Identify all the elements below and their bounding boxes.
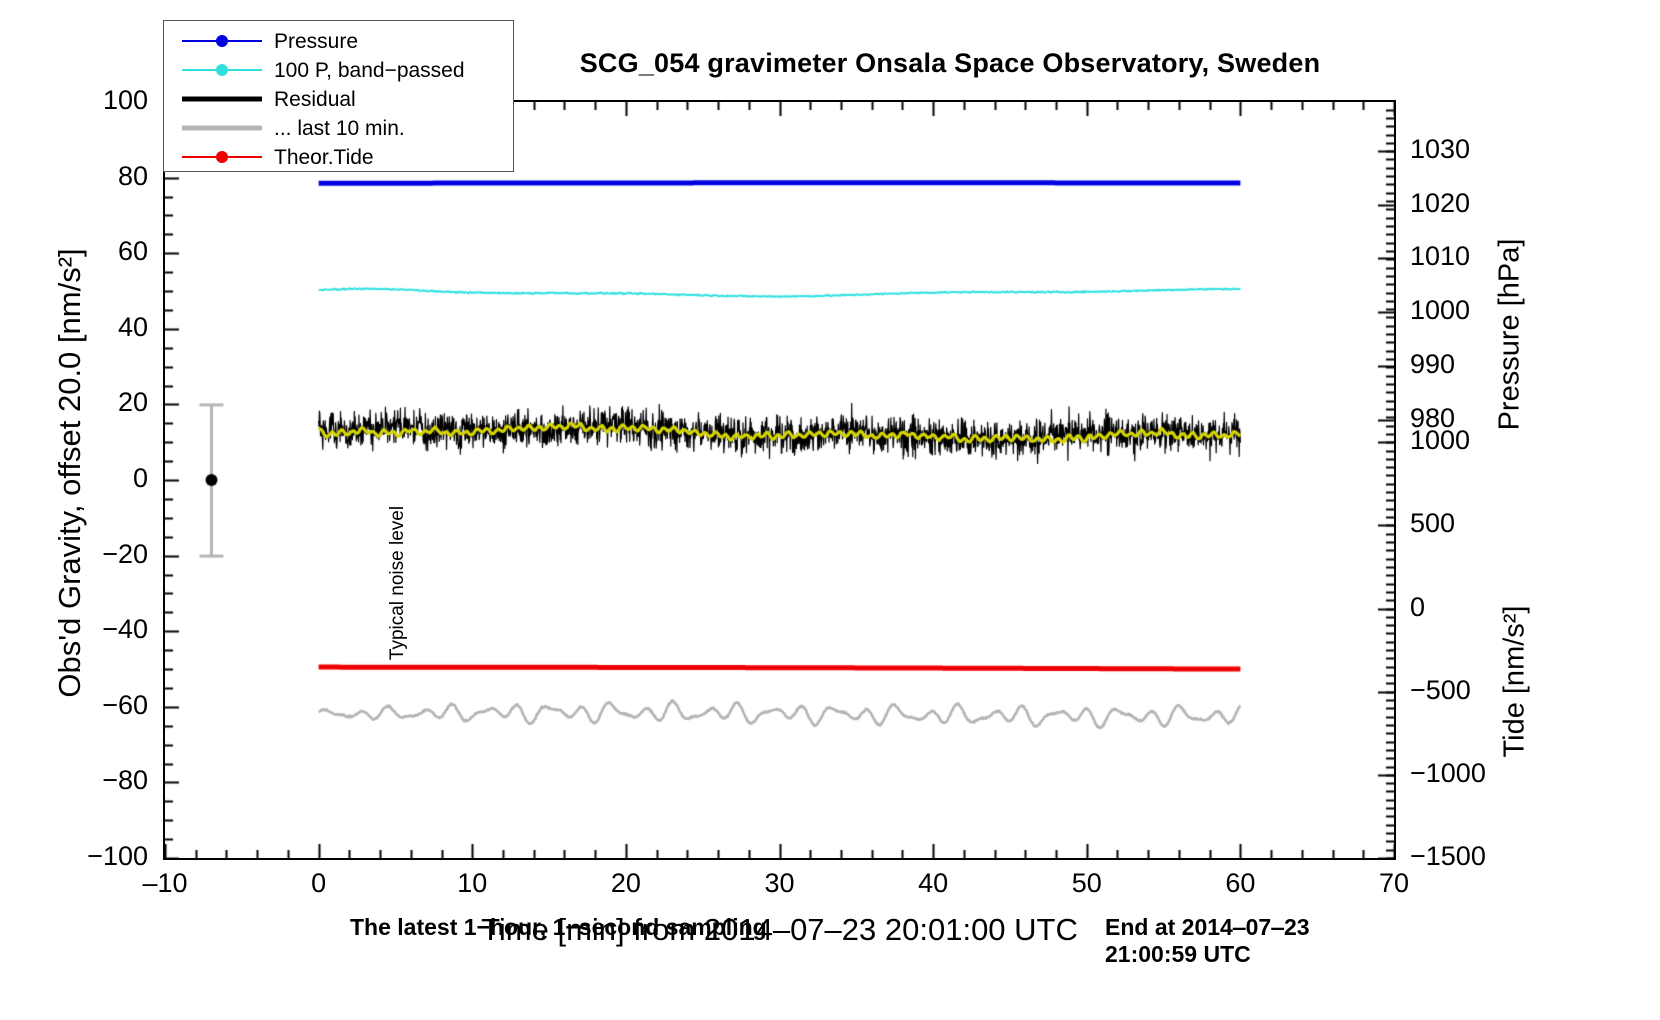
y-tick-label-left: −60 — [0, 690, 148, 721]
y-tick-label-left: −80 — [0, 765, 148, 796]
legend-swatch-icon — [182, 27, 262, 55]
tide-tick-label: −1500 — [1410, 841, 1530, 872]
x-tick-label: 40 — [873, 868, 993, 899]
y-tick-label-left: 100 — [0, 85, 148, 116]
legend-item-4[interactable]: Theor.Tide — [164, 143, 513, 171]
x-tick-label: 10 — [412, 868, 532, 899]
legend-item-1[interactable]: 100 P, band−passed — [164, 56, 513, 84]
tide-tick-label: −500 — [1410, 675, 1530, 706]
tide-tick-label: −1000 — [1410, 758, 1530, 789]
typical-noise-level-label: Typical noise level — [387, 468, 409, 698]
x-tick-label: 30 — [720, 868, 840, 899]
chart-legend[interactable]: Pressure100 P, band−passedResidual... la… — [163, 20, 514, 172]
legend-item-0[interactable]: Pressure — [164, 27, 513, 55]
pressure-tick-label: 1020 — [1410, 188, 1530, 219]
legend-swatch-icon — [182, 114, 262, 142]
legend-label: 100 P, band−passed — [274, 60, 465, 81]
legend-marker-icon — [216, 64, 228, 76]
y-tick-label-left: −20 — [0, 539, 148, 570]
x-axis-title: Time [min] from 2014‒07‒23 20:01:00 UTC — [163, 912, 1396, 948]
y-tick-label-left: 60 — [0, 236, 148, 267]
x-tick-label: 0 — [259, 868, 379, 899]
legend-marker-icon — [216, 35, 228, 47]
legend-swatch-icon — [182, 85, 262, 113]
plot-area: The latest 1−hour, 1−second sampling End… — [163, 100, 1396, 860]
chart-page: SCG_054 gravimeter Onsala Space Observat… — [0, 0, 1660, 1020]
legend-label: ... last 10 min. — [274, 118, 405, 139]
x-tick-label: 70 — [1334, 868, 1454, 899]
pressure-tick-label: 1030 — [1410, 134, 1530, 165]
legend-item-3[interactable]: ... last 10 min. — [164, 114, 513, 142]
legend-marker-icon — [216, 151, 228, 163]
legend-label: Pressure — [274, 31, 358, 52]
tide-tick-label: 0 — [1410, 592, 1530, 623]
legend-label: Theor.Tide — [274, 147, 374, 168]
plot-canvas — [165, 102, 1394, 858]
x-tick-label: 50 — [1027, 868, 1147, 899]
legend-item-2[interactable]: Residual — [164, 85, 513, 113]
legend-swatch-icon — [182, 143, 262, 171]
y-tick-label-left: 0 — [0, 463, 148, 494]
y-tick-label-left: −40 — [0, 614, 148, 645]
pressure-tick-label: 990 — [1410, 349, 1530, 380]
y-tick-label-left: 80 — [0, 161, 148, 192]
legend-label: Residual — [274, 89, 356, 110]
x-tick-label: ‒10 — [105, 868, 225, 899]
y-tick-label-left: 20 — [0, 387, 148, 418]
pressure-tick-label: 1000 — [1410, 295, 1530, 326]
pressure-tick-label: 1010 — [1410, 241, 1530, 272]
x-tick-label: 60 — [1180, 868, 1300, 899]
tide-tick-label: 500 — [1410, 508, 1530, 539]
chart-title: SCG_054 gravimeter Onsala Space Observat… — [520, 48, 1380, 79]
tide-tick-label: 1000 — [1410, 425, 1530, 456]
x-tick-label: 20 — [566, 868, 686, 899]
legend-swatch-icon — [182, 56, 262, 84]
y-tick-label-left: 40 — [0, 312, 148, 343]
